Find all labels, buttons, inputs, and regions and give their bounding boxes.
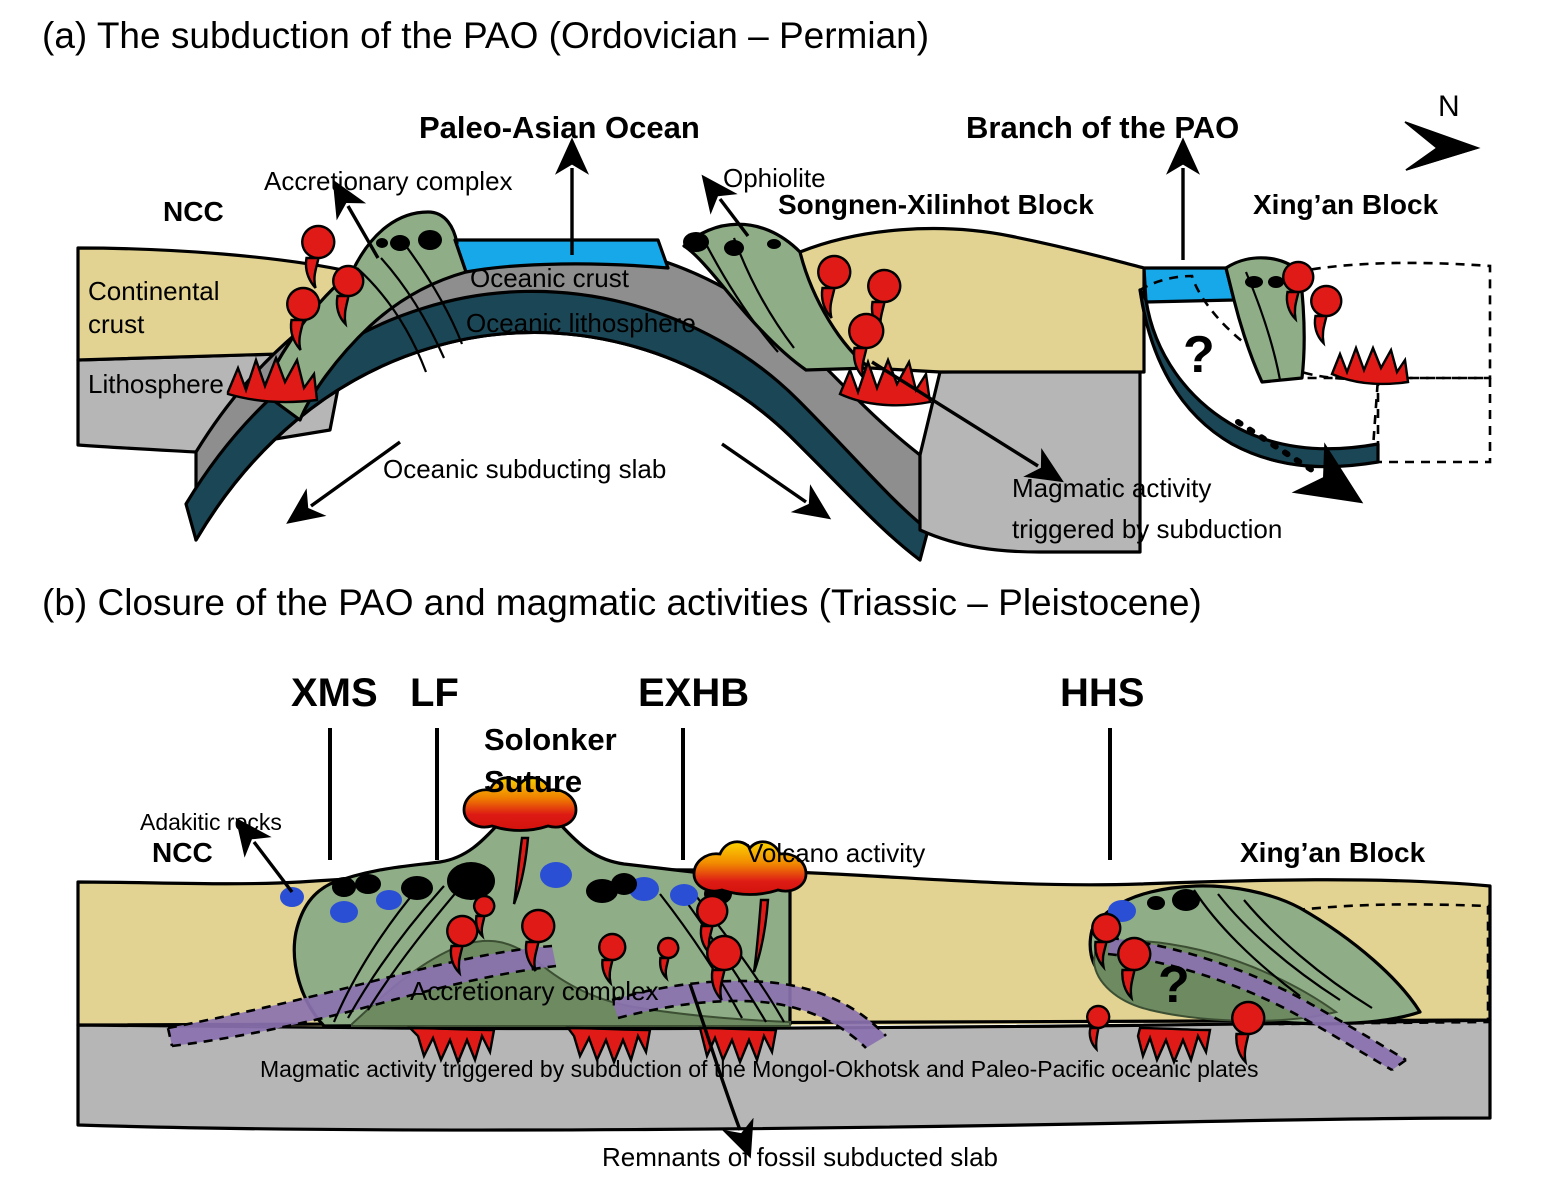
label-branch-of-pao: Branch of the PAO: [966, 110, 1239, 145]
label-continental-crust-line2: crust: [88, 309, 145, 339]
ophiolite-blob: [418, 230, 442, 250]
ophiolite-blob: [376, 238, 388, 248]
tectonic-cross-section-figure: (a) The subduction of the PAO (Ordovicia…: [0, 0, 1565, 1192]
ophiolite-blob: [332, 877, 356, 897]
label-lithosphere: Lithosphere: [88, 369, 224, 399]
ophiolite-blob: [611, 873, 637, 895]
caption-magmatic-activity-b: Magmatic activity triggered by subductio…: [260, 1056, 1258, 1082]
ophiolite-blob: [683, 232, 709, 252]
label-songnen-xilinhot-block: Songnen-Xilinhot Block: [778, 189, 1094, 220]
subduction-direction-arrow-right: [722, 444, 806, 502]
label-oceanic-subducting-slab: Oceanic subducting slab: [383, 454, 666, 484]
label-magmatic-activity-a-l2: triggered by subduction: [1012, 514, 1282, 544]
ophiolite-blob: [1245, 276, 1263, 288]
magma-droplet: [1311, 286, 1341, 343]
label-fault-xms: XMS: [291, 671, 378, 715]
panel-b-question-mark: ?: [1158, 956, 1190, 1014]
label-paleo-asian-ocean: Paleo-Asian Ocean: [419, 110, 700, 145]
ophiolite-blob: [1172, 889, 1200, 911]
label-xingan-block-a: Xing’an Block: [1253, 189, 1439, 220]
figure-canvas: (a) The subduction of the PAO (Ordovicia…: [0, 0, 1565, 1192]
north-arrow-icon: [1405, 122, 1478, 170]
label-magmatic-activity-a-l1: Magmatic activity: [1012, 473, 1211, 503]
label-remnants-fossil-slab: Remnants of fossil subducted slab: [602, 1142, 998, 1172]
label-accretionary-complex-b: Accretionary complex: [410, 976, 659, 1006]
ophiolite-blob: [767, 239, 781, 249]
label-ncc-b: NCC: [152, 837, 213, 868]
magma-underplate: [1332, 348, 1408, 384]
ophiolite-blob: [1268, 276, 1284, 288]
label-solonker-suture-l2: Suture: [484, 764, 582, 799]
panel-a-cross-section: ? Continental crust Lithosphere Oceanic …: [78, 212, 1490, 560]
ophiolite-blob: [390, 235, 410, 251]
label-continental-crust: Continental: [88, 276, 220, 306]
label-oceanic-lithosphere: Oceanic lithosphere: [466, 308, 696, 338]
adakitic-marker: [330, 901, 358, 923]
panel-b-title: (b) Closure of the PAO and magmatic acti…: [42, 582, 1202, 623]
panel-a-question-mark: ?: [1183, 326, 1215, 384]
label-fault-exhb: EXHB: [638, 671, 749, 715]
ophiolite-blob: [724, 240, 744, 256]
ophiolite-blob: [355, 874, 381, 894]
label-volcano-activity: Volcano activity: [746, 838, 925, 868]
ophiolite-blob: [1147, 896, 1165, 910]
label-fault-hhs: HHS: [1060, 671, 1144, 715]
branch-pao-ocean-water: [1144, 268, 1234, 302]
compass-north-label: N: [1438, 90, 1460, 123]
north-arrow-icon-tail: [1406, 148, 1478, 170]
adakitic-marker: [540, 862, 572, 888]
label-xingan-block-b: Xing’an Block: [1240, 837, 1426, 868]
label-accretionary-complex-a: Accretionary complex: [264, 166, 513, 196]
panel-b-cross-section: ? Accretionary complex Magmatic activity…: [78, 778, 1490, 1130]
ophiolite-blob: [401, 876, 433, 900]
ophiolite-blob: [447, 862, 495, 900]
xingan-lithosphere-layer: [1378, 378, 1490, 462]
compass-rose: N: [1405, 90, 1478, 170]
adakitic-marker: [376, 890, 402, 910]
label-solonker-suture-l1: Solonker: [484, 722, 617, 757]
label-ncc-a: NCC: [163, 196, 224, 227]
label-fault-lf: LF: [410, 671, 459, 715]
label-adakitic-rocks: Adakitic rocks: [140, 809, 282, 835]
label-ophiolite: Ophiolite: [723, 163, 826, 193]
adakitic-marker: [670, 884, 698, 906]
label-oceanic-crust: Oceanic crust: [470, 263, 630, 293]
panel-a-title: (a) The subduction of the PAO (Ordovicia…: [42, 15, 929, 56]
